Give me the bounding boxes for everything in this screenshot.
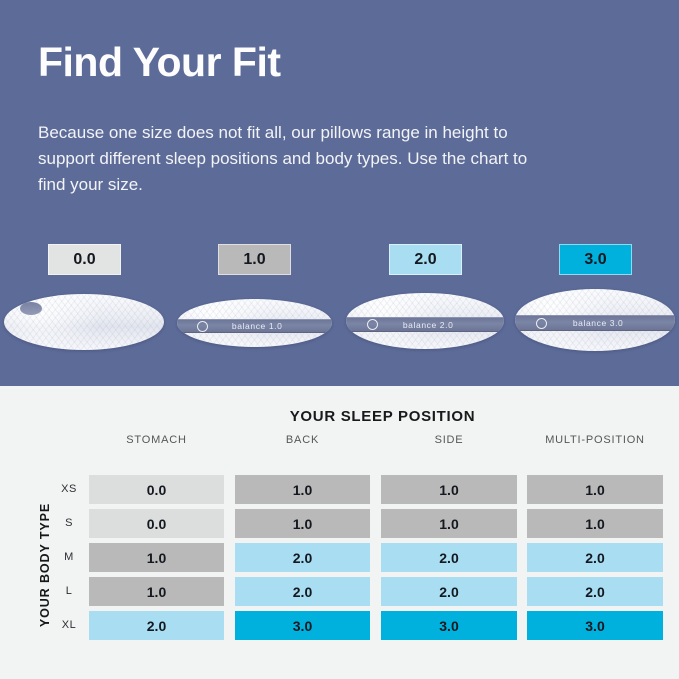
find-your-fit-infographic: Find Your Fit Because one size does not … <box>0 0 679 679</box>
row-label-l: L <box>55 585 83 597</box>
cell-value: 0.0 <box>147 482 166 498</box>
y-axis-label: YOUR BODY TYPE <box>38 475 52 655</box>
size-badge-label: 0.0 <box>73 251 95 269</box>
brand-logo-icon <box>367 319 378 330</box>
row-label-xl: XL <box>55 619 83 631</box>
table-cell[interactable]: 2.0 <box>527 577 663 606</box>
cell-value: 1.0 <box>293 482 312 498</box>
size-badge-label: 3.0 <box>584 251 606 269</box>
table-cell[interactable]: 1.0 <box>381 509 517 538</box>
cell-value: 2.0 <box>585 550 604 566</box>
table-cell[interactable]: 1.0 <box>235 475 370 504</box>
cell-value: 3.0 <box>439 618 458 634</box>
cell-value: 1.0 <box>439 516 458 532</box>
table-cell[interactable]: 2.0 <box>235 543 370 572</box>
pillow-1-0[interactable]: balance 1.0 <box>177 299 332 347</box>
table-cell[interactable]: 2.0 <box>235 577 370 606</box>
pillow-flat-icon <box>4 294 164 350</box>
row-label-xs: XS <box>55 483 83 495</box>
row-label-m: M <box>55 551 83 563</box>
table-cell[interactable]: 1.0 <box>235 509 370 538</box>
brand-logo-icon <box>197 321 208 332</box>
pillow-0-0[interactable] <box>4 294 164 350</box>
pillow-band: balance 2.0 <box>346 317 504 332</box>
pillow-icon: balance 2.0 <box>346 293 504 349</box>
row-label-s: S <box>55 517 83 529</box>
size-badge-0-0[interactable]: 0.0 <box>48 244 121 275</box>
table-cell[interactable]: 2.0 <box>381 543 517 572</box>
size-badge-3-0[interactable]: 3.0 <box>559 244 632 275</box>
size-badge-label: 2.0 <box>414 251 436 269</box>
table-cell[interactable]: 1.0 <box>89 577 224 606</box>
hero-panel: Find Your Fit Because one size does not … <box>0 0 679 386</box>
cell-value: 1.0 <box>585 482 604 498</box>
table-cell[interactable]: 2.0 <box>527 543 663 572</box>
pillow-icon: balance 3.0 <box>515 289 675 351</box>
cell-value: 1.0 <box>147 584 166 600</box>
size-badge-1-0[interactable]: 1.0 <box>218 244 291 275</box>
pillow-3-0[interactable]: balance 3.0 <box>515 289 675 351</box>
column-header-side: SIDE <box>381 434 517 446</box>
column-header-back: BACK <box>235 434 370 446</box>
pillow-2-0[interactable]: balance 2.0 <box>346 293 504 349</box>
table-cell[interactable]: 0.0 <box>89 475 224 504</box>
fit-chart: YOUR SLEEP POSITION YOUR BODY TYPE STOMA… <box>0 386 679 679</box>
cell-value: 2.0 <box>293 550 312 566</box>
cell-value: 1.0 <box>147 550 166 566</box>
cell-value: 0.0 <box>147 516 166 532</box>
pillow-icon: balance 1.0 <box>177 299 332 347</box>
cell-value: 1.0 <box>439 482 458 498</box>
cell-value: 1.0 <box>585 516 604 532</box>
page-title: Find Your Fit <box>38 39 281 86</box>
table-cell[interactable]: 3.0 <box>527 611 663 640</box>
cell-value: 2.0 <box>293 584 312 600</box>
cell-value: 2.0 <box>439 550 458 566</box>
table-cell[interactable]: 0.0 <box>89 509 224 538</box>
cell-value: 2.0 <box>147 618 166 634</box>
size-badge-2-0[interactable]: 2.0 <box>389 244 462 275</box>
brand-logo-icon <box>536 318 547 329</box>
cell-value: 1.0 <box>293 516 312 532</box>
cell-value: 2.0 <box>585 584 604 600</box>
table-cell[interactable]: 1.0 <box>527 475 663 504</box>
cell-value: 3.0 <box>293 618 312 634</box>
table-cell[interactable]: 2.0 <box>89 611 224 640</box>
column-header-stomach: STOMACH <box>89 434 224 446</box>
pillow-model-label: balance 2.0 <box>378 320 479 330</box>
table-cell[interactable]: 1.0 <box>527 509 663 538</box>
table-cell[interactable]: 3.0 <box>381 611 517 640</box>
hero-description: Because one size does not fit all, our p… <box>38 120 533 198</box>
chart-title: YOUR SLEEP POSITION <box>0 408 679 425</box>
pillow-band: balance 3.0 <box>515 315 675 331</box>
table-cell[interactable]: 1.0 <box>89 543 224 572</box>
pillow-model-label: balance 1.0 <box>208 321 307 331</box>
table-cell[interactable]: 1.0 <box>381 475 517 504</box>
pillow-model-label: balance 3.0 <box>547 318 650 328</box>
brand-logo-icon <box>20 302 42 315</box>
cell-value: 2.0 <box>439 584 458 600</box>
cell-value: 3.0 <box>585 618 604 634</box>
table-cell[interactable]: 2.0 <box>381 577 517 606</box>
table-cell[interactable]: 3.0 <box>235 611 370 640</box>
size-badge-label: 1.0 <box>243 251 265 269</box>
column-header-multi-position: MULTI-POSITION <box>527 434 663 446</box>
pillow-band: balance 1.0 <box>177 319 332 333</box>
